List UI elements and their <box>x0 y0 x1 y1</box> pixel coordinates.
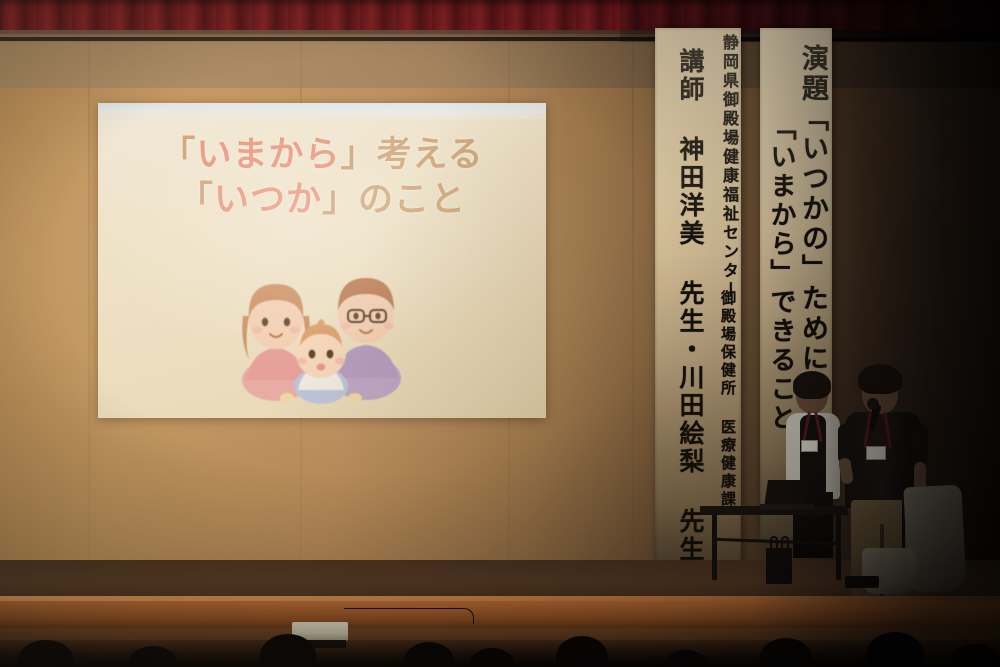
glasses-icon <box>865 385 878 393</box>
wall-seam <box>632 0 634 612</box>
microphone-head-icon <box>867 398 879 410</box>
table-leg <box>712 514 717 580</box>
slide-tail-nokoto: のこと <box>358 180 466 220</box>
slide-highlight-itsuka: いつか <box>214 180 322 220</box>
screen-top-band <box>98 103 546 119</box>
tote-bag-handle <box>781 536 789 549</box>
lecture-hall-photo: 「いまから」考える 「いつか」のこと <box>0 0 1000 667</box>
family-illustration <box>224 258 420 408</box>
speaker-banner: 静岡県御殿場健康福祉センター 御殿場保健所 医療健康課 講師 神田洋美 先生・川… <box>655 28 741 588</box>
equipment-box <box>845 576 879 588</box>
banner-speakers-text: 講師 神田洋美 先生・川田絵梨 先生 <box>678 48 703 564</box>
tote-bag <box>766 548 792 584</box>
stage-edge-highlight <box>0 596 1000 601</box>
slide-tail-kangaeru: 考える <box>377 135 484 175</box>
banner-title-column-1: 演題「いつかの」ために <box>799 44 826 374</box>
projector-cable <box>344 608 474 624</box>
slide-title-line-2: 「いつか」のこと <box>98 178 546 223</box>
presenter-left-name-badge <box>801 440 818 452</box>
presenter-right-sleeve-right <box>912 424 928 466</box>
slide-bracket-close: 」 <box>341 135 377 175</box>
banner-department-text: 御殿場保健所 医療健康課 <box>720 290 735 509</box>
slide-bracket-open: 「 <box>178 180 214 220</box>
slide-title: 「いまから」考える 「いつか」のこと <box>98 133 546 223</box>
table-leg <box>836 514 841 580</box>
slide-title-line-1: 「いまから」考える <box>98 133 546 178</box>
projection-screen: 「いまから」考える 「いつか」のこと <box>98 103 546 418</box>
stage-edge <box>0 596 1000 630</box>
presenter-right-name-badge <box>866 446 886 460</box>
glasses-icon <box>813 390 824 397</box>
glasses-icon <box>881 385 894 393</box>
laptop-base <box>760 504 814 509</box>
banner-organization-text: 静岡県御殿場健康福祉センター <box>721 34 737 300</box>
slide-bracket-open: 「 <box>161 135 197 175</box>
wall-seam <box>88 0 90 612</box>
banner-title-column-2: 「いまから」できること <box>768 114 794 433</box>
tote-bag-handle <box>770 536 778 549</box>
slide-highlight-imakara: いまから <box>197 135 341 175</box>
slide-bracket-close: 」 <box>322 180 358 220</box>
glasses-icon <box>799 390 810 397</box>
